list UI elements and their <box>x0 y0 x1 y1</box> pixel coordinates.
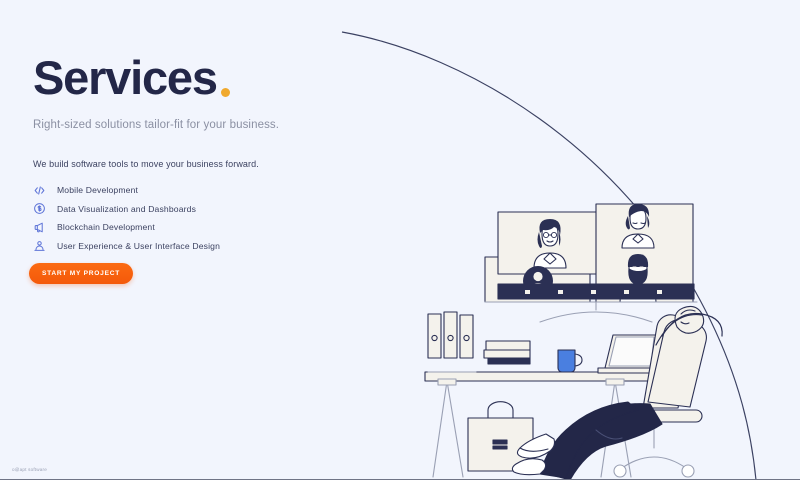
services-list: Mobile Development Data Visualization an… <box>33 181 363 255</box>
page-title: Services <box>33 52 363 104</box>
service-item-label: Data Visualization and Dashboards <box>57 204 196 214</box>
code-brackets-icon <box>33 184 46 197</box>
hero-lead: We build software tools to move your bus… <box>33 159 363 169</box>
service-item-label: Mobile Development <box>57 185 138 195</box>
remote-work-illustration <box>400 0 800 480</box>
service-item-data-visualization[interactable]: Data Visualization and Dashboards <box>33 200 363 219</box>
page-title-text: Services <box>33 52 217 104</box>
service-item-blockchain-development[interactable]: Blockchain Development <box>33 218 363 237</box>
hero-section: Services Right-sized solutions tailor-fi… <box>0 0 800 480</box>
service-item-mobile-development[interactable]: Mobile Development <box>33 181 363 200</box>
chart-circle-icon <box>33 202 46 215</box>
brand-logo: o@apt software <box>12 467 47 472</box>
title-accent-dot-icon <box>221 88 230 97</box>
hero-copy: Services Right-sized solutions tailor-fi… <box>33 52 363 255</box>
service-item-user-experience[interactable]: User Experience & User Interface Design <box>33 237 363 256</box>
person-icon <box>33 239 46 252</box>
megaphone-icon <box>33 221 46 234</box>
service-item-label: User Experience & User Interface Design <box>57 241 220 251</box>
service-item-label: Blockchain Development <box>57 222 155 232</box>
hero-subtitle: Right-sized solutions tailor-fit for you… <box>33 119 363 131</box>
start-my-project-button[interactable]: START MY PROJECT <box>29 263 133 284</box>
